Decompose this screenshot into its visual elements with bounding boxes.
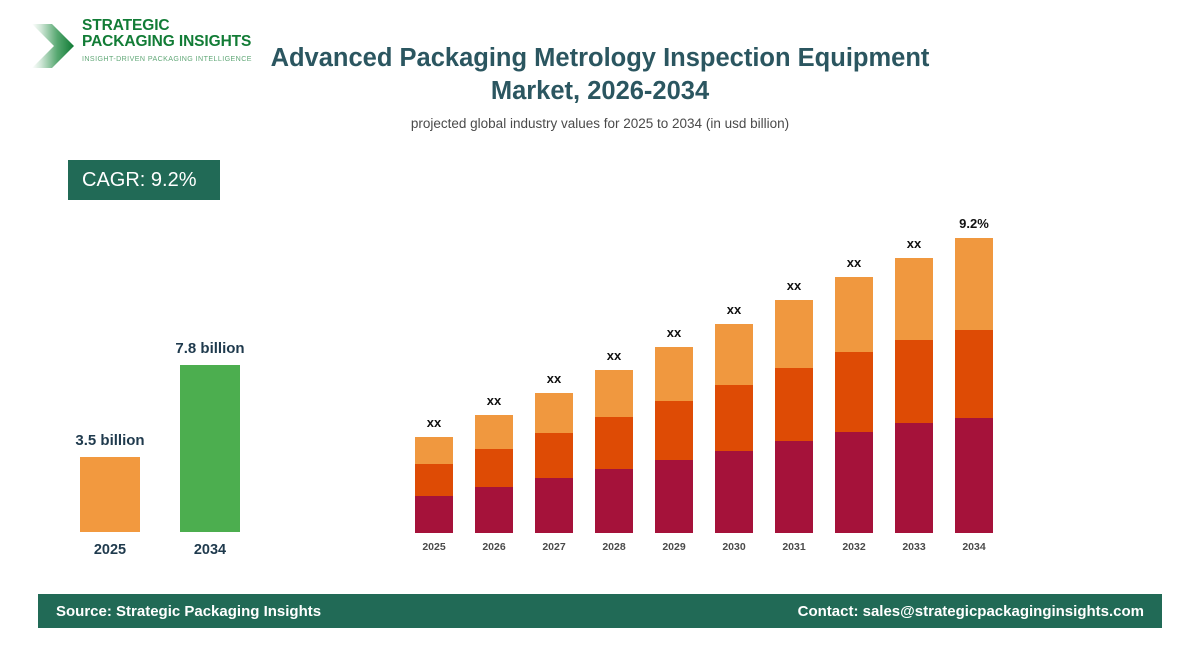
brand-logo: STRATEGIC PACKAGING INSIGHTS INSIGHT-DRI… [30, 18, 260, 76]
comparison-bar-end [180, 365, 240, 532]
cagr-badge: CAGR: 9.2% [68, 160, 220, 200]
stacked-bar[interactable] [415, 437, 453, 533]
logo-wordmark: STRATEGIC PACKAGING INSIGHTS INSIGHT-DRI… [82, 18, 260, 63]
stacked-bar[interactable] [955, 238, 993, 533]
comparison-year-start: 2025 [80, 542, 140, 558]
bar-segment-top[interactable] [775, 300, 813, 368]
bar-segment-top[interactable] [535, 393, 573, 433]
bar-year-label: 2027 [535, 541, 573, 553]
bar-segment-top[interactable] [895, 258, 933, 340]
chevron-right-icon [30, 20, 76, 72]
bar-year-label: 2029 [655, 541, 693, 553]
bar-year-label: 2025 [415, 541, 453, 553]
comparison-value-end: 7.8 billion [130, 340, 290, 357]
bar-segment-bottom[interactable] [835, 432, 873, 533]
stacked-bar[interactable] [715, 324, 753, 533]
bar-segment-top[interactable] [475, 415, 513, 449]
footer-bar: Source: Strategic Packaging Insights Con… [38, 594, 1162, 628]
bar-segment-bottom[interactable] [955, 418, 993, 533]
bar-segment-middle[interactable] [475, 449, 513, 487]
bar-top-label: xx [454, 393, 534, 408]
stacked-bar[interactable] [835, 277, 873, 533]
bar-year-label: 2032 [835, 541, 873, 553]
stacked-bar-chart: xx2025xx2026xx2027xx2028xx2029xx2030xx20… [405, 200, 1015, 555]
footer-contact[interactable]: Contact: sales@strategicpackaginginsight… [798, 603, 1144, 620]
bar-segment-middle[interactable] [655, 401, 693, 460]
bar-top-label: xx [874, 236, 954, 251]
bar-segment-middle[interactable] [715, 385, 753, 451]
page-subtitle: projected global industry values for 202… [260, 116, 940, 131]
bar-segment-bottom[interactable] [595, 469, 633, 533]
bar-top-label: xx [694, 302, 774, 317]
bar-segment-top[interactable] [595, 370, 633, 417]
bar-top-label: xx [574, 348, 654, 363]
bar-segment-bottom[interactable] [895, 423, 933, 533]
bar-top-label: xx [514, 371, 594, 386]
bar-segment-middle[interactable] [415, 464, 453, 496]
bar-segment-bottom[interactable] [775, 441, 813, 533]
bar-top-label: 9.2% [934, 216, 1014, 231]
logo-line-2: PACKAGING INSIGHTS [82, 34, 260, 50]
bar-year-label: 2030 [715, 541, 753, 553]
bar-segment-middle[interactable] [535, 433, 573, 478]
bar-segment-bottom[interactable] [415, 496, 453, 533]
footer-source: Source: Strategic Packaging Insights [56, 603, 321, 620]
logo-line-1: STRATEGIC [82, 18, 260, 34]
bar-segment-middle[interactable] [895, 340, 933, 423]
bar-segment-bottom[interactable] [655, 460, 693, 533]
bar-segment-top[interactable] [415, 437, 453, 464]
stacked-bar[interactable] [895, 258, 933, 533]
stacked-bar[interactable] [595, 370, 633, 533]
bar-year-label: 2028 [595, 541, 633, 553]
bar-top-label: xx [754, 278, 834, 293]
bar-year-label: 2026 [475, 541, 513, 553]
bar-segment-bottom[interactable] [535, 478, 573, 533]
bar-segment-middle[interactable] [955, 330, 993, 418]
page-title: Advanced Packaging Metrology Inspection … [260, 42, 940, 108]
stacked-bar[interactable] [775, 300, 813, 533]
comparison-chart: 3.5 billion 7.8 billion 2025 2034 [40, 300, 290, 570]
bar-segment-middle[interactable] [595, 417, 633, 469]
bar-top-label: xx [814, 255, 894, 270]
stacked-bar[interactable] [655, 347, 693, 533]
bar-top-label: xx [634, 325, 714, 340]
bar-segment-middle[interactable] [835, 352, 873, 432]
bar-segment-bottom[interactable] [715, 451, 753, 533]
bar-year-label: 2031 [775, 541, 813, 553]
comparison-year-end: 2034 [180, 542, 240, 558]
stacked-bar[interactable] [475, 415, 513, 533]
bar-segment-top[interactable] [955, 238, 993, 330]
bar-top-label: xx [394, 415, 474, 430]
bar-segment-bottom[interactable] [475, 487, 513, 533]
bar-segment-top[interactable] [655, 347, 693, 401]
bar-segment-top[interactable] [715, 324, 753, 385]
bar-year-label: 2033 [895, 541, 933, 553]
comparison-bar-start [80, 457, 140, 532]
comparison-value-start: 3.5 billion [30, 432, 190, 449]
logo-tagline: INSIGHT-DRIVEN PACKAGING INTELLIGENCE [82, 55, 260, 63]
stacked-bar[interactable] [535, 393, 573, 533]
bar-segment-middle[interactable] [775, 368, 813, 441]
bar-segment-top[interactable] [835, 277, 873, 352]
bar-year-label: 2034 [955, 541, 993, 553]
